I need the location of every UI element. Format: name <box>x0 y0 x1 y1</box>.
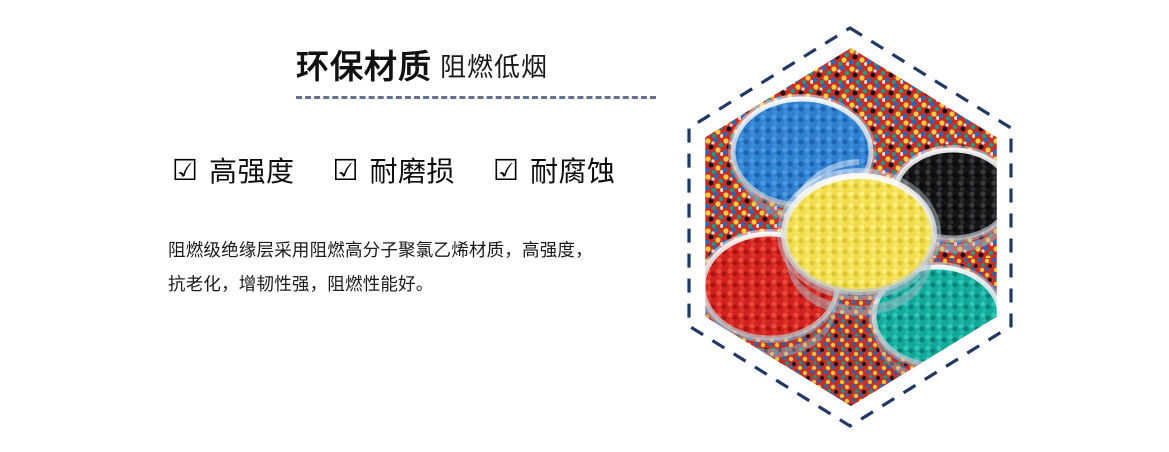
product-feature-banner: 环保材质阻燃低烟 ☑ 高强度 ☑ 耐磨损 ☑ 耐腐蚀 阻燃级绝缘层采用阻燃高分子… <box>0 0 1169 452</box>
title-block: 环保材质阻燃低烟 <box>296 50 656 83</box>
description-line-1: 阻燃级绝缘层采用阻燃高分子聚氯乙烯材质，高强度， <box>168 233 678 267</box>
title-dashed-rule <box>296 96 656 99</box>
checked-box-icon: ☑ <box>333 156 359 185</box>
feature-label: 高强度 <box>209 150 295 190</box>
feature-list: ☑ 高强度 ☑ 耐磨损 ☑ 耐腐蚀 <box>172 150 616 190</box>
title-main-text: 环保材质 <box>296 48 432 85</box>
checked-box-icon: ☑ <box>172 156 198 185</box>
feature-label: 耐磨损 <box>370 150 456 190</box>
title-sub-text: 阻燃低烟 <box>440 52 548 82</box>
feature-item-strength: ☑ 高强度 <box>172 150 295 190</box>
description-paragraph: 阻燃级绝缘层采用阻燃高分子聚氯乙烯材质，高强度， 抗老化，增韧性强，阻燃性能好。 <box>168 233 678 301</box>
page-title: 环保材质阻燃低烟 <box>296 50 656 83</box>
checked-box-icon: ☑ <box>493 156 519 185</box>
description-line-2: 抗老化，增韧性强，阻燃性能好。 <box>168 267 678 301</box>
feature-label: 耐腐蚀 <box>530 150 616 190</box>
feature-item-corrosion-resistant: ☑ 耐腐蚀 <box>493 150 616 190</box>
text-column: 环保材质阻燃低烟 ☑ 高强度 ☑ 耐磨损 ☑ 耐腐蚀 阻燃级绝缘层采用阻燃高分子… <box>0 0 690 452</box>
feature-item-wear-resistant: ☑ 耐磨损 <box>333 150 456 190</box>
hexagon-artwork <box>687 26 1013 428</box>
